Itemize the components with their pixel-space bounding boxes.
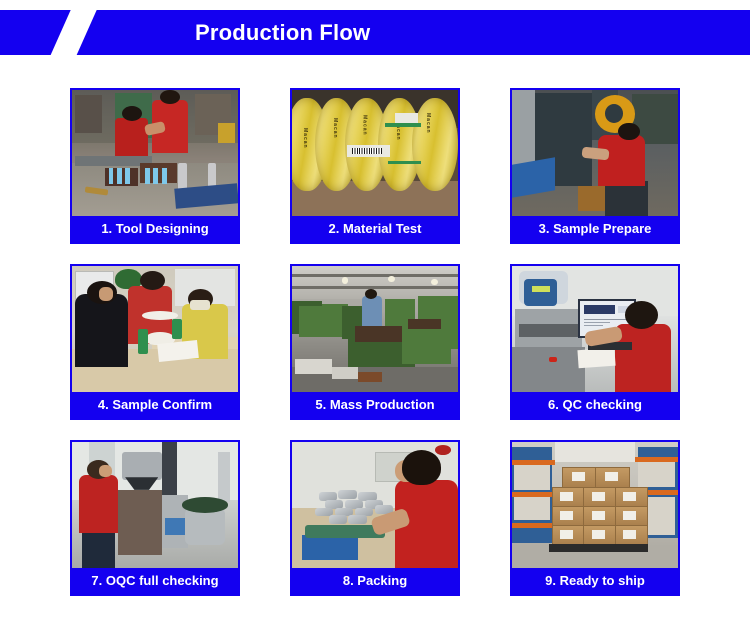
production-flow-grid: 1. Tool Designing Macan Macan Macan Maca… [0, 88, 750, 596]
flow-step-card-3[interactable]: 3. Sample Prepare [510, 88, 680, 244]
flow-step-photo-6 [512, 266, 678, 392]
flow-step-photo-5 [292, 266, 458, 392]
flow-step-photo-8 [292, 442, 458, 568]
flow-step-card-6[interactable]: 6. QC checking [510, 264, 680, 420]
flow-step-photo-3 [512, 90, 678, 216]
flow-step-label-9: 9. Ready to ship [512, 568, 678, 594]
flow-step-card-9[interactable]: 9. Ready to ship [510, 440, 680, 596]
flow-step-card-1[interactable]: 1. Tool Designing [70, 88, 240, 244]
flow-step-card-5[interactable]: 5. Mass Production [290, 264, 460, 420]
flow-step-photo-7 [72, 442, 238, 568]
flow-step-label-2: 2. Material Test [292, 216, 458, 242]
flow-step-card-4[interactable]: 4. Sample Confirm [70, 264, 240, 420]
flow-step-card-8[interactable]: 8. Packing [290, 440, 460, 596]
flow-step-label-1: 1. Tool Designing [72, 216, 238, 242]
flow-step-card-2[interactable]: Macan Macan Macan Macan Macan 2. Materia… [290, 88, 460, 244]
page-header-banner: Production Flow [0, 10, 750, 55]
flow-step-photo-9 [512, 442, 678, 568]
coil-print-2: Macan [332, 118, 338, 139]
flow-step-photo-4 [72, 266, 238, 392]
flow-step-label-8: 8. Packing [292, 568, 458, 594]
flow-step-card-7[interactable]: 7. OQC full checking [70, 440, 240, 596]
coil-print-5: Macan [425, 113, 431, 134]
flow-step-label-3: 3. Sample Prepare [512, 216, 678, 242]
flow-step-label-4: 4. Sample Confirm [72, 392, 238, 418]
flow-step-label-6: 6. QC checking [512, 392, 678, 418]
flow-step-label-7: 7. OQC full checking [72, 568, 238, 594]
flow-step-photo-1 [72, 90, 238, 216]
page-title: Production Flow [195, 10, 370, 55]
coil-print-3: Macan [362, 115, 368, 136]
flow-step-photo-2: Macan Macan Macan Macan Macan [292, 90, 458, 216]
flow-step-label-5: 5. Mass Production [292, 392, 458, 418]
diagonal-slash-icon [47, 10, 100, 55]
coil-print-1: Macan [302, 128, 308, 149]
